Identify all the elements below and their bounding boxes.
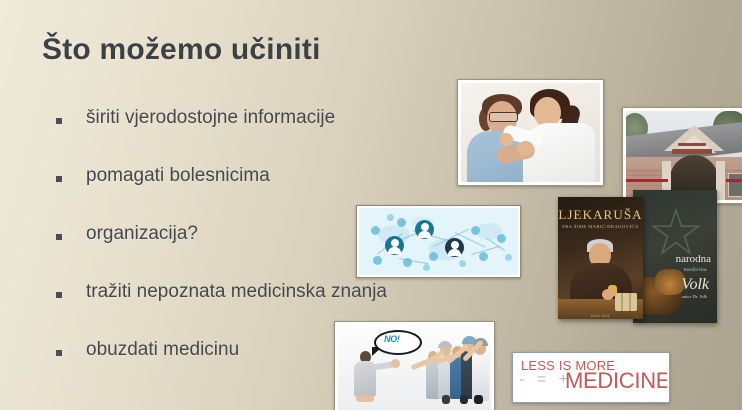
patient-hand-raised: [391, 359, 400, 368]
book-author-script: Volk: [681, 276, 709, 294]
nurse-comforting-elderly-patient-photo: [457, 79, 604, 186]
person-body-icon: [418, 231, 431, 238]
network-person-node: [445, 238, 464, 257]
book-author-subscript: autor Dr. Volk: [682, 294, 707, 299]
person-body-icon: [448, 249, 461, 256]
wall-accent-stripe-left: [626, 179, 668, 182]
book-cover-content: narodna medicina Volk autor Dr. Volk: [633, 190, 717, 323]
network-small-node: [429, 252, 438, 261]
list-item-label: organizacija?: [86, 223, 198, 245]
person-head-icon: [421, 223, 429, 231]
doctor-shoe: [442, 395, 450, 404]
eyeglasses-icon: [489, 112, 518, 122]
book-subtitle: medicina: [633, 267, 707, 273]
banner-symbols: - = +: [519, 371, 572, 389]
banner-content: LESS IS MORE - = + MEDICINE: [515, 355, 667, 400]
square-bullet-icon: [56, 234, 62, 240]
ljekarusa-book-cover: LJEKARUŠA FRA ŠIME MARIĆ/DRAGOVIĆA NAKLA…: [558, 197, 643, 319]
wall-accent-stripe-right: [726, 179, 742, 182]
network-small-node: [471, 226, 480, 235]
column-right: [716, 161, 725, 200]
photo-content: [626, 111, 742, 200]
doctor-hair: [438, 341, 452, 348]
doctor-figure: [472, 351, 489, 401]
page-title: Što možemo učiniti: [42, 33, 321, 67]
friar-hand: [602, 289, 614, 300]
building-sign-line2: [672, 149, 712, 154]
cartoon-content: NO!: [338, 325, 491, 410]
square-bullet-icon: [56, 176, 62, 182]
network-small-node: [459, 260, 466, 267]
speech-bubble-text: NO!: [384, 334, 399, 344]
social-network-organization-graphic: [356, 205, 521, 278]
banner-line-3: MEDICINE: [565, 368, 667, 394]
network-small-node: [371, 226, 380, 235]
slide-canvas: Što možemo učiniti širiti vjerodostojne …: [0, 0, 742, 410]
network-small-node: [403, 258, 412, 267]
person-body-icon: [388, 247, 401, 254]
book-title: narodna: [633, 253, 711, 265]
list-item-label: obuzdati medicinu: [86, 339, 239, 361]
network-small-node: [497, 234, 506, 243]
network-small-node: [373, 256, 382, 265]
square-bullet-icon: [56, 118, 62, 124]
network-small-node: [505, 254, 512, 261]
person-head-icon: [391, 239, 399, 247]
network-person-node: [415, 220, 434, 239]
patient-hands: [517, 141, 534, 156]
network-small-node: [479, 252, 488, 261]
nurse-hand: [499, 133, 513, 146]
window: [728, 173, 742, 197]
patient-saying-no-to-doctors-cartoon: NO!: [334, 321, 495, 410]
network-person-node: [385, 236, 404, 255]
patient-legs: [356, 395, 374, 402]
graphic-content: [359, 208, 518, 275]
doctor-shoe: [460, 395, 468, 404]
book-cover-content: LJEKARUŠA FRA ŠIME MARIĆ/DRAGOVIĆA NAKLA…: [558, 197, 643, 319]
doctor-shoe: [474, 395, 483, 404]
list-item-label: pomagati bolesnicima: [86, 165, 270, 187]
network-small-node: [387, 214, 394, 221]
list-item-label: širiti vjerodostojne informacije: [86, 107, 335, 129]
network-small-node: [423, 264, 430, 271]
book-title: LJEKARUŠA: [558, 207, 643, 223]
world-map-watermark: [359, 208, 518, 275]
pentagram-icon: [651, 208, 701, 256]
list-item: širiti vjerodostojne informacije: [52, 104, 472, 162]
building-sign-line1: [678, 143, 706, 146]
person-head-icon: [451, 241, 459, 249]
less-is-more-medicine-banner: LESS IS MORE - = + MEDICINE: [512, 352, 670, 403]
square-bullet-icon: [56, 350, 62, 356]
book-subtitle: FRA ŠIME MARIĆ/DRAGOVIĆA: [558, 224, 643, 229]
network-small-node: [397, 218, 406, 227]
book-publisher: NAKLADA: [558, 314, 643, 318]
photo-content: [461, 83, 600, 182]
narodna-medicina-book-cover: narodna medicina Volk autor Dr. Volk: [633, 190, 717, 323]
list-item-label: tražiti nepoznata medicinska znanja: [86, 281, 387, 303]
herb-jars: [615, 293, 637, 311]
square-bullet-icon: [56, 292, 62, 298]
